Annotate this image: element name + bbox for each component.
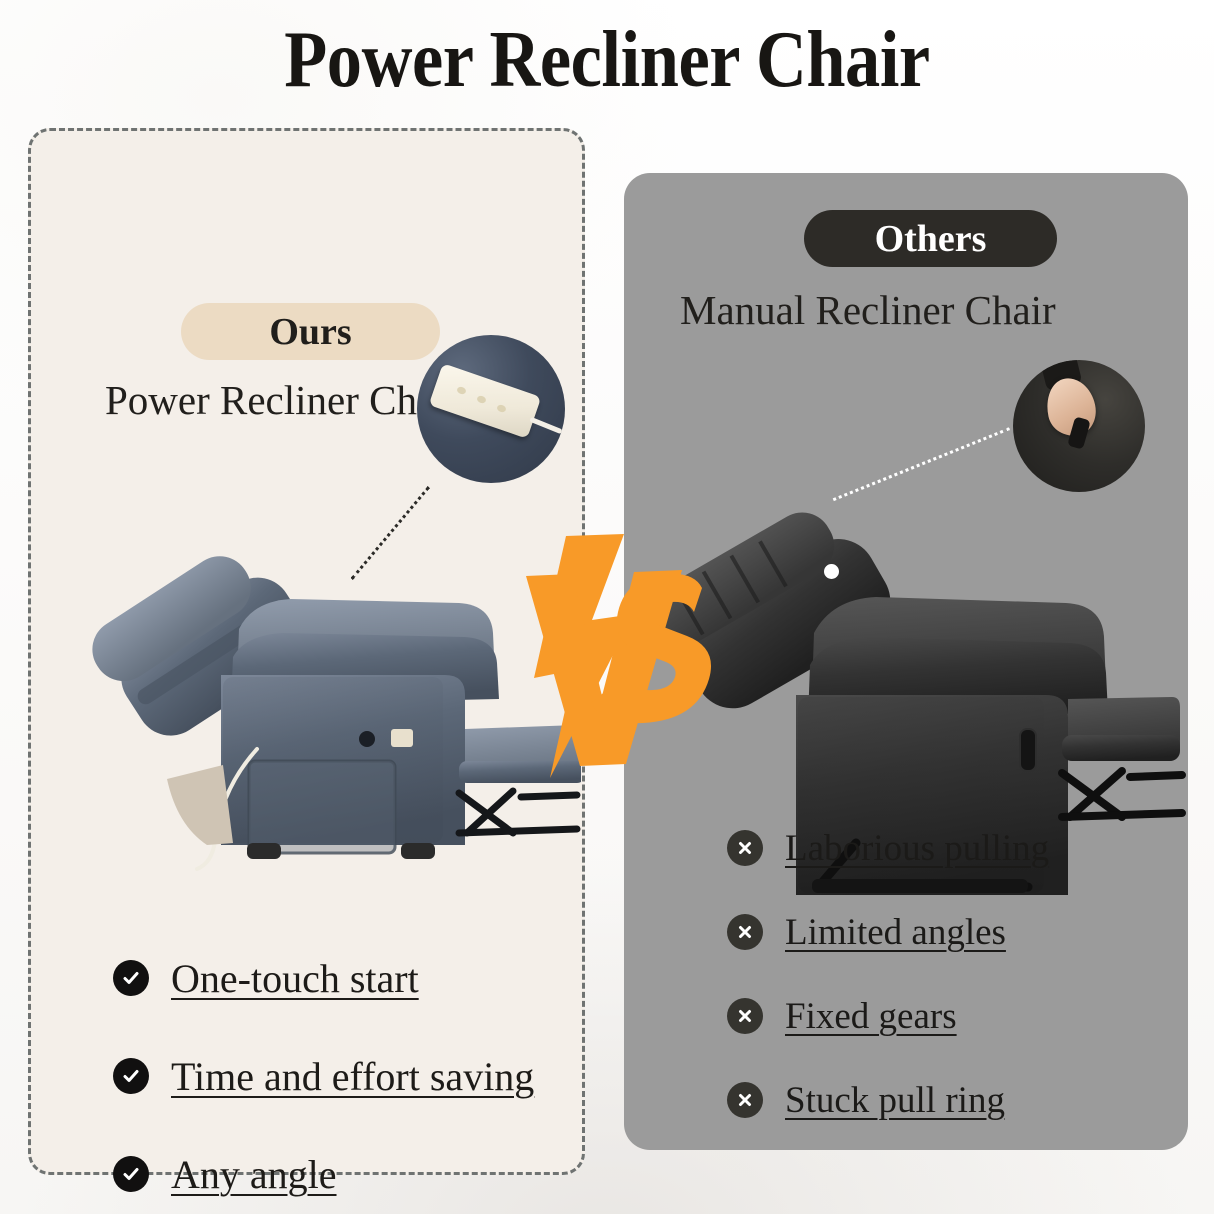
feature-label: One-touch start: [171, 955, 419, 1002]
list-item: Fixed gears: [727, 974, 1049, 1058]
feature-list-ours: One-touch start Time and effort saving A…: [113, 929, 534, 1214]
cross-icon: [727, 1082, 763, 1118]
remote-cable: [529, 417, 562, 434]
list-item: Laborious pulling: [727, 806, 1049, 890]
feature-label: Limited angles: [785, 911, 1006, 954]
badge-others: Others: [804, 210, 1057, 267]
subtitle-ours: Power Recliner Chair: [105, 376, 460, 424]
leader-line-endpoint-dot: [824, 564, 839, 579]
check-icon: [113, 1058, 149, 1094]
list-item: One-touch start: [113, 929, 534, 1027]
subtitle-others: Manual Recliner Chair: [680, 286, 1056, 334]
check-icon: [113, 960, 149, 996]
check-icon: [113, 1156, 149, 1192]
list-item: Stuck pull ring: [727, 1058, 1049, 1142]
badge-ours: Ours: [181, 303, 440, 360]
feature-label: Time and effort saving: [171, 1053, 534, 1100]
inset-remote-control: [417, 335, 565, 483]
badge-ours-label: Ours: [269, 310, 351, 354]
list-item: Time and effort saving: [113, 1027, 534, 1125]
page-title: Power Recliner Chair: [73, 16, 1141, 104]
cross-icon: [727, 914, 763, 950]
feature-label: Fixed gears: [785, 995, 957, 1038]
feature-list-others: Laborious pulling Limited angles Fixed g…: [727, 806, 1049, 1142]
cross-icon: [727, 830, 763, 866]
feature-label: Stuck pull ring: [785, 1079, 1005, 1122]
feature-label: Any angle: [171, 1151, 337, 1198]
vs-divider-badge: [506, 528, 726, 783]
comparison-panel-ours: Ours Power Recliner Chair: [28, 128, 585, 1175]
feature-label: Laborious pulling: [785, 827, 1049, 870]
list-item: Any angle: [113, 1125, 534, 1214]
cross-icon: [727, 998, 763, 1034]
product-image-power-recliner: [61, 461, 581, 906]
inset-hand-pulling-lever: [1013, 360, 1145, 492]
list-item: Limited angles: [727, 890, 1049, 974]
badge-others-label: Others: [875, 217, 987, 261]
